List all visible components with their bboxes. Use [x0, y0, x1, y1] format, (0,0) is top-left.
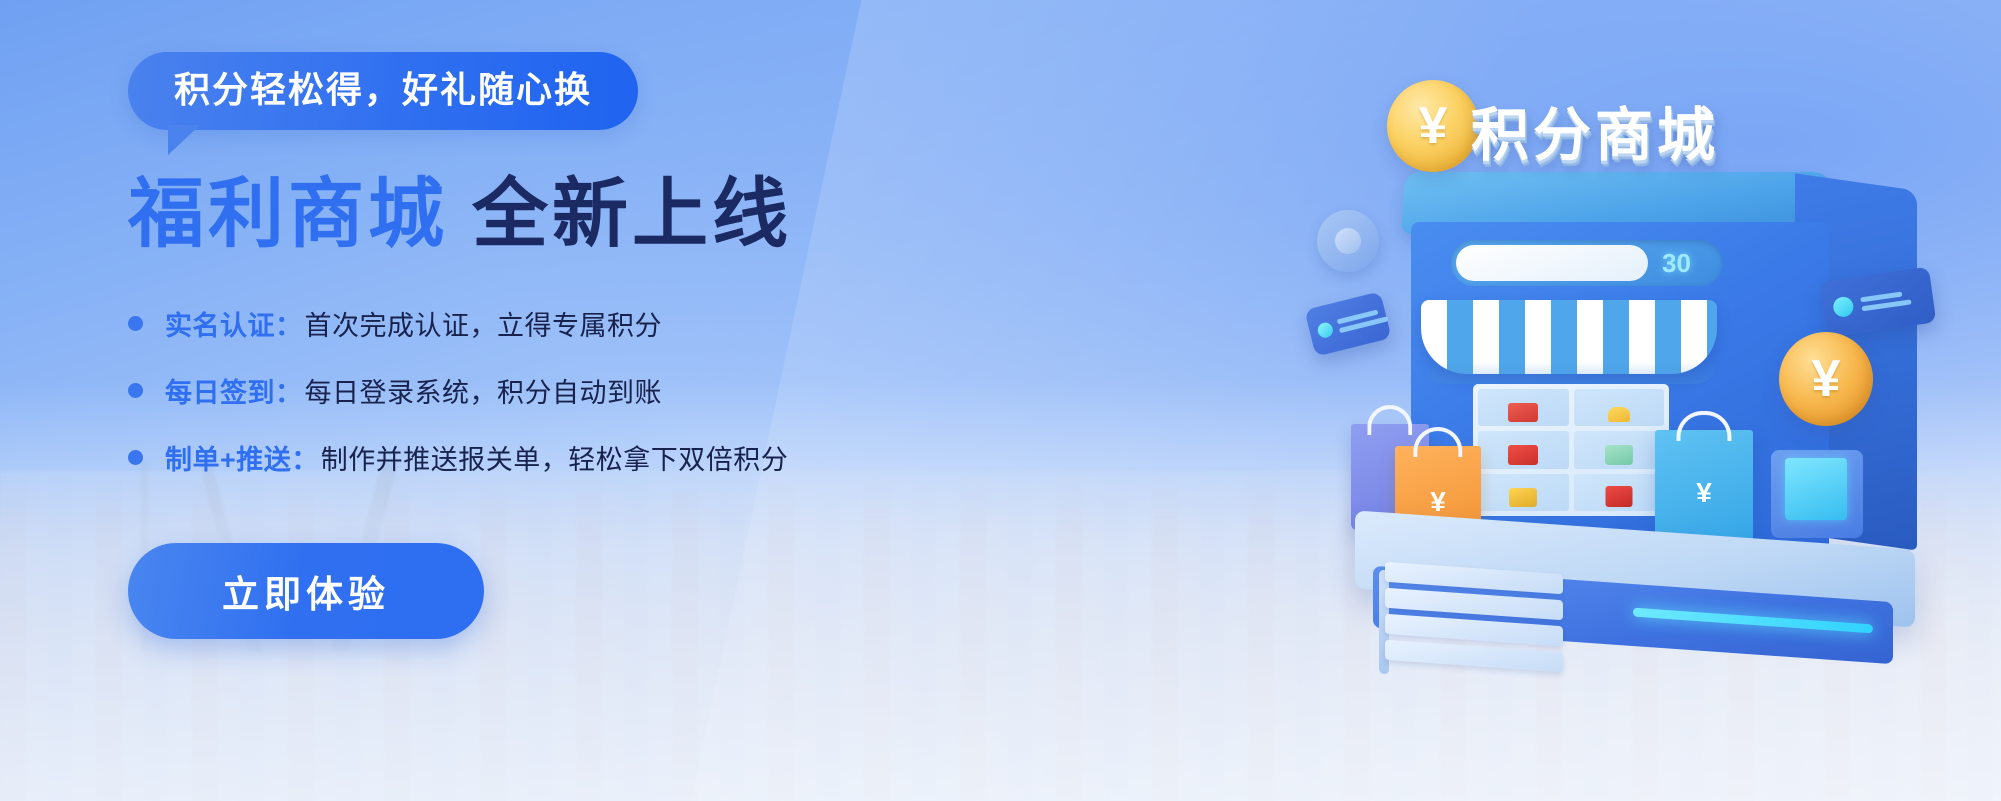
shelf-item-box-gold — [1509, 488, 1537, 507]
bullet-dot-icon — [128, 450, 143, 465]
promo-banner: 积分轻松得，好礼随心换 福利商城全新上线 实名认证： 首次完成认证，立得专属积分… — [0, 0, 2001, 801]
stair-step — [1385, 640, 1563, 672]
try-now-button[interactable]: 立即体验 — [128, 543, 484, 639]
feature-label: 每日签到： — [165, 371, 303, 410]
payment-terminal-screen — [1785, 458, 1847, 520]
speech-bubble-tail — [168, 125, 200, 155]
page-title: 福利商城全新上线 — [128, 174, 948, 256]
banner-content: 积分轻松得，好礼随心换 福利商城全新上线 实名认证： 首次完成认证，立得专属积分… — [128, 52, 948, 639]
yen-coin-symbol: ¥ — [1419, 100, 1448, 152]
list-item: 每日签到： 每日登录系统，积分自动到账 — [128, 371, 948, 410]
shelf-cell — [1574, 389, 1665, 426]
points-mall-sign-text: 积分商城 — [1471, 88, 1719, 172]
bullet-dot-icon — [128, 316, 143, 331]
shelf-cell — [1574, 431, 1665, 468]
speech-bubble-tagline: 积分轻松得，好礼随心换 — [128, 52, 638, 130]
yen-coin-large-symbol: ¥ — [1812, 353, 1841, 405]
shelf-cell — [1574, 474, 1665, 511]
decorative-ring-shape — [1312, 205, 1384, 277]
points-mall-illustration: ¥ 积分商城 30 ¥ — [1303, 32, 1943, 772]
feature-description: 制作并推送报关单，轻松拿下双倍积分 — [321, 438, 789, 477]
feature-description: 首次完成认证，立得专属积分 — [305, 304, 663, 343]
feature-list: 实名认证： 首次完成认证，立得专属积分 每日签到： 每日登录系统，积分自动到账 … — [128, 304, 948, 477]
headline-primary: 福利商城 — [128, 172, 448, 257]
yen-coin-large-icon: ¥ — [1779, 332, 1873, 426]
list-item: 实名认证： 首次完成认证，立得专属积分 — [128, 304, 948, 343]
kiosk-display-bar: 30 — [1451, 240, 1723, 286]
bullet-dot-icon — [128, 383, 143, 398]
floating-card-dot-icon — [1316, 321, 1334, 339]
shelf-item-bag-green — [1605, 445, 1633, 465]
bag-yen-symbol: ¥ — [1696, 479, 1712, 507]
kiosk-stairs — [1385, 568, 1565, 680]
floating-card-left — [1304, 291, 1391, 356]
shelf-item-box-red — [1508, 445, 1538, 465]
feature-label: 实名认证： — [165, 304, 303, 343]
list-item: 制单+推送： 制作并推送报关单，轻松拿下双倍积分 — [128, 438, 948, 477]
shelf-cell — [1478, 474, 1569, 511]
tagline-text: 积分轻松得，好礼随心换 — [174, 72, 592, 108]
shop-awning-edge — [1421, 362, 1717, 384]
shelf-item-bag-red — [1605, 486, 1632, 507]
floating-card-lines — [1860, 290, 1911, 311]
shelf-item-box-red — [1508, 403, 1538, 422]
shelf-cell — [1478, 431, 1569, 468]
yen-coin-icon: ¥ — [1387, 80, 1479, 172]
kiosk-counter-value: 30 — [1662, 248, 1691, 279]
feature-description: 每日登录系统，积分自动到账 — [305, 371, 663, 410]
feature-label: 制单+推送： — [165, 438, 319, 477]
bag-yen-symbol: ¥ — [1430, 488, 1446, 516]
headline-secondary: 全新上线 — [472, 172, 792, 257]
product-shelf — [1473, 384, 1669, 516]
shelf-item-box-yellow — [1608, 407, 1630, 422]
kiosk-display-screen — [1456, 245, 1648, 281]
floating-card-lines — [1337, 308, 1389, 334]
try-now-button-label: 立即体验 — [222, 564, 390, 618]
shelf-cell — [1478, 389, 1569, 426]
payment-terminal — [1771, 450, 1863, 538]
floating-card-dot-icon — [1832, 296, 1855, 319]
